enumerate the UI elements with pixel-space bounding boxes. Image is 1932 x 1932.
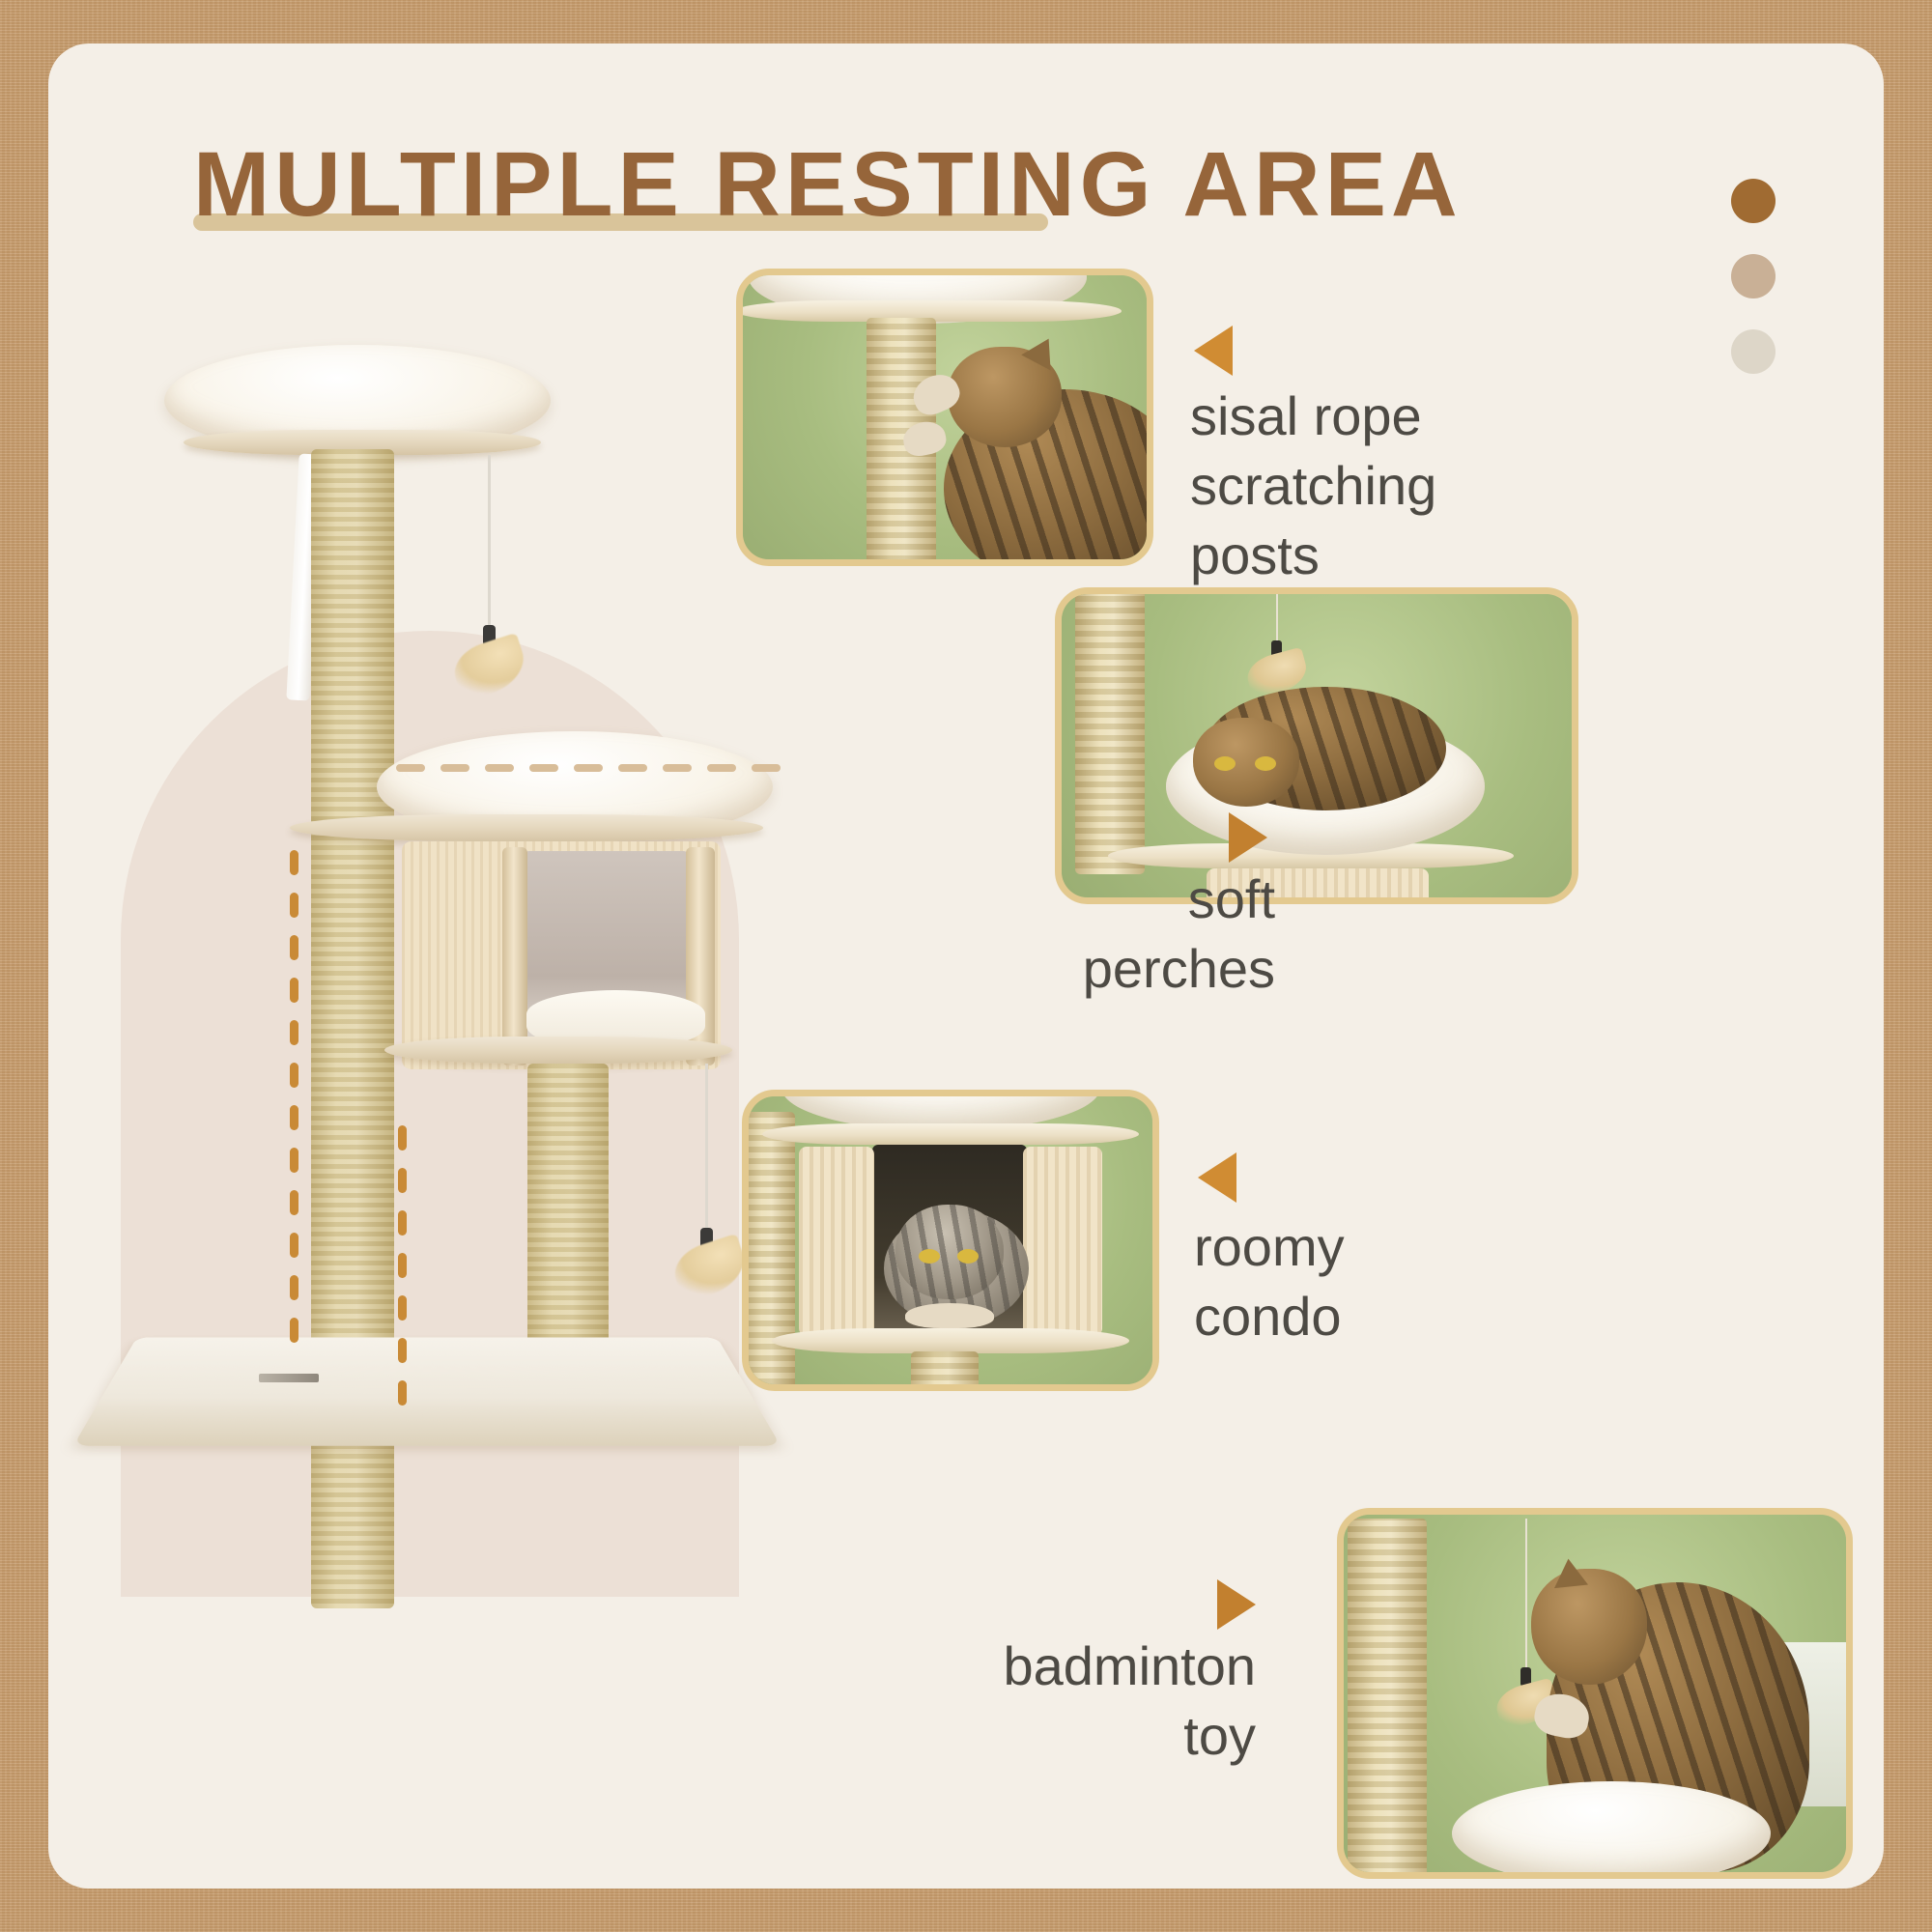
label-line-1: roomy xyxy=(1194,1212,1345,1282)
cat-ear-icon xyxy=(1551,1557,1588,1588)
feather-toy-upper xyxy=(448,633,531,702)
photo-card-badminton-toy[interactable] xyxy=(1337,1508,1853,1879)
brand-logo-badge xyxy=(259,1374,319,1382)
condo-slats-right xyxy=(1023,1147,1102,1336)
label-line-2: condo xyxy=(1194,1282,1345,1351)
cat-eye-right xyxy=(957,1249,979,1264)
marker-triangle-right-perches xyxy=(1229,812,1267,863)
label-line-1: sisal rope xyxy=(1190,382,1436,451)
photo-card-sisal-rope-scratching-posts[interactable] xyxy=(736,269,1153,566)
label-soft-perches: soft perches xyxy=(782,865,1275,1004)
cat-head-playing xyxy=(1531,1569,1647,1685)
condo-slats-left xyxy=(799,1147,874,1336)
measure-dash-right xyxy=(398,1125,407,1423)
condo-floor-shelf xyxy=(772,1328,1129,1353)
photo-scene-perch xyxy=(1062,594,1572,897)
toy-string-upper xyxy=(488,455,491,629)
infographic-card: MULTIPLE RESTING AREA xyxy=(48,43,1884,1889)
photo-card-soft-perches[interactable] xyxy=(1055,587,1578,904)
cat-eye-left xyxy=(919,1249,940,1264)
label-line-2: toy xyxy=(773,1701,1256,1771)
condo-floor-shelf xyxy=(384,1037,732,1064)
cat-eye-left xyxy=(1214,756,1236,771)
sisal-post-bottom xyxy=(911,1351,979,1391)
page-title-group: MULTIPLE RESTING AREA xyxy=(193,136,1463,233)
photo-scene-toy xyxy=(1344,1515,1846,1872)
toy-string xyxy=(1525,1519,1527,1673)
cat-eye-right xyxy=(1255,756,1276,771)
sisal-post xyxy=(1075,587,1145,874)
label-line-3: posts xyxy=(1190,521,1436,590)
dot-medium-icon xyxy=(1731,254,1776,298)
kraft-paper-frame: MULTIPLE RESTING AREA xyxy=(0,0,1932,1932)
photo-scene-scratching xyxy=(743,275,1147,559)
toy-string xyxy=(1276,594,1278,644)
label-roomy-condo: roomy condo xyxy=(1194,1212,1345,1351)
label-sisal-rope-scratching-posts: sisal rope scratching posts xyxy=(1190,382,1436,590)
product-illustration xyxy=(48,314,821,1860)
label-line-1: soft xyxy=(782,865,1275,934)
cat-paws-condo xyxy=(905,1303,994,1328)
sisal-post xyxy=(1348,1519,1427,1879)
label-badminton-toy: badminton toy xyxy=(773,1632,1256,1771)
condo-top-shelf xyxy=(762,1123,1139,1145)
base-board xyxy=(73,1337,781,1445)
front-scratching-post xyxy=(527,1064,609,1344)
label-line-1: badminton xyxy=(773,1632,1256,1701)
label-line-2: perches xyxy=(782,934,1275,1004)
condo-pillar-left xyxy=(502,847,527,1065)
decorative-dots xyxy=(1731,179,1776,405)
toy-string-lower xyxy=(705,1064,708,1233)
measure-dash-left xyxy=(290,850,298,1360)
cat-head-curled xyxy=(1193,718,1299,807)
marker-triangle-right-badminton xyxy=(1217,1579,1256,1630)
photo-scene-condo xyxy=(749,1096,1152,1384)
photo-card-roomy-condo[interactable] xyxy=(742,1090,1159,1391)
marker-triangle-left-condo xyxy=(1198,1152,1236,1203)
sisal-post-left xyxy=(743,1112,795,1391)
perch-cushion xyxy=(1452,1781,1771,1879)
page-title: MULTIPLE RESTING AREA xyxy=(193,136,1463,233)
feather-toy-lower xyxy=(668,1234,752,1303)
label-line-2: scratching xyxy=(1190,451,1436,521)
dot-light-icon xyxy=(1731,329,1776,374)
dot-dark-icon xyxy=(1731,179,1776,223)
middle-shelf xyxy=(290,814,763,841)
measure-dash-horizontal xyxy=(396,764,781,772)
cat-head-condo xyxy=(895,1205,1004,1299)
marker-triangle-left-sisal xyxy=(1194,326,1233,376)
